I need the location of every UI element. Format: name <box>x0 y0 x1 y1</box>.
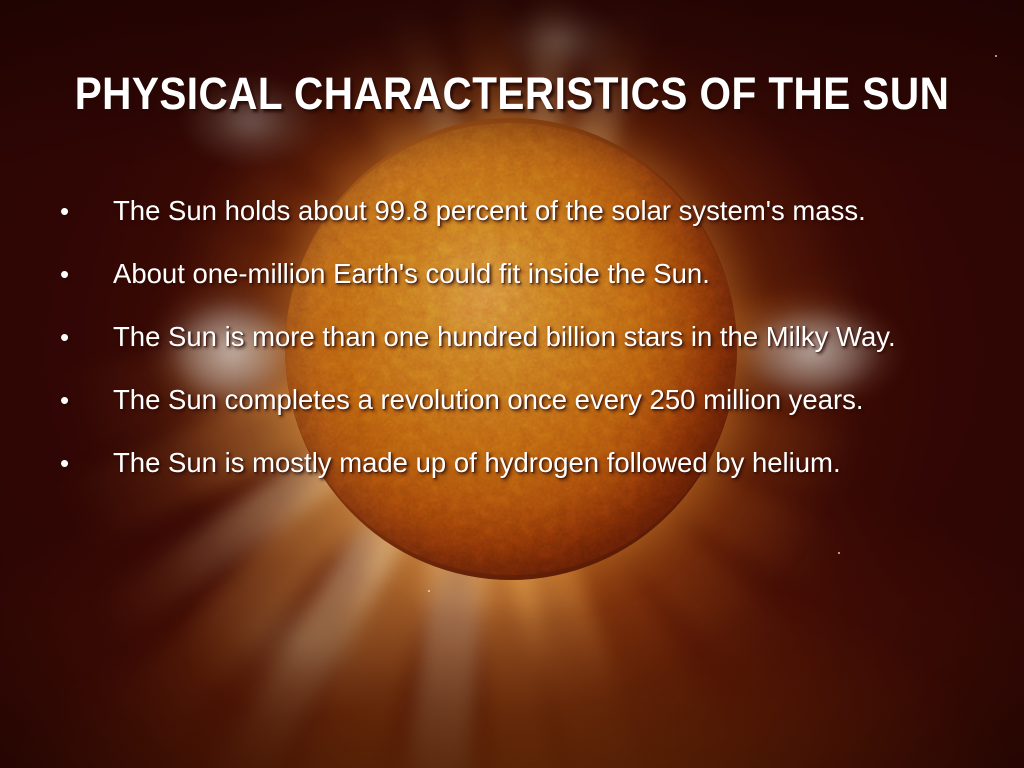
bullet-text: The Sun is more than one hundred billion… <box>113 322 1010 352</box>
bullet-point-icon: • <box>60 261 113 287</box>
bullet-item: • The Sun holds about 99.8 percent of th… <box>60 196 1010 259</box>
bullet-item: • The Sun is mostly made up of hydrogen … <box>60 448 1010 511</box>
presentation-slide: PHYSICAL CHARACTERISTICS OF THE SUN • Th… <box>0 0 1024 768</box>
bullet-item: • About one-million Earth's could fit in… <box>60 259 1010 322</box>
bullet-point-icon: • <box>60 198 113 224</box>
bullet-text: The Sun is mostly made up of hydrogen fo… <box>113 448 1010 478</box>
bullet-point-icon: • <box>60 387 113 413</box>
bullet-item: • The Sun completes a revolution once ev… <box>60 385 1010 448</box>
bullet-point-icon: • <box>60 324 113 350</box>
bullet-text: The Sun holds about 99.8 percent of the … <box>113 196 1010 226</box>
bullet-text: About one-million Earth's could fit insi… <box>113 259 1010 289</box>
slide-title: PHYSICAL CHARACTERISTICS OF THE SUN <box>51 68 973 120</box>
bullet-list: • The Sun holds about 99.8 percent of th… <box>60 196 1010 511</box>
bullet-item: • The Sun is more than one hundred billi… <box>60 322 1010 385</box>
bullet-text: The Sun completes a revolution once ever… <box>113 385 1010 415</box>
bullet-point-icon: • <box>60 450 113 476</box>
